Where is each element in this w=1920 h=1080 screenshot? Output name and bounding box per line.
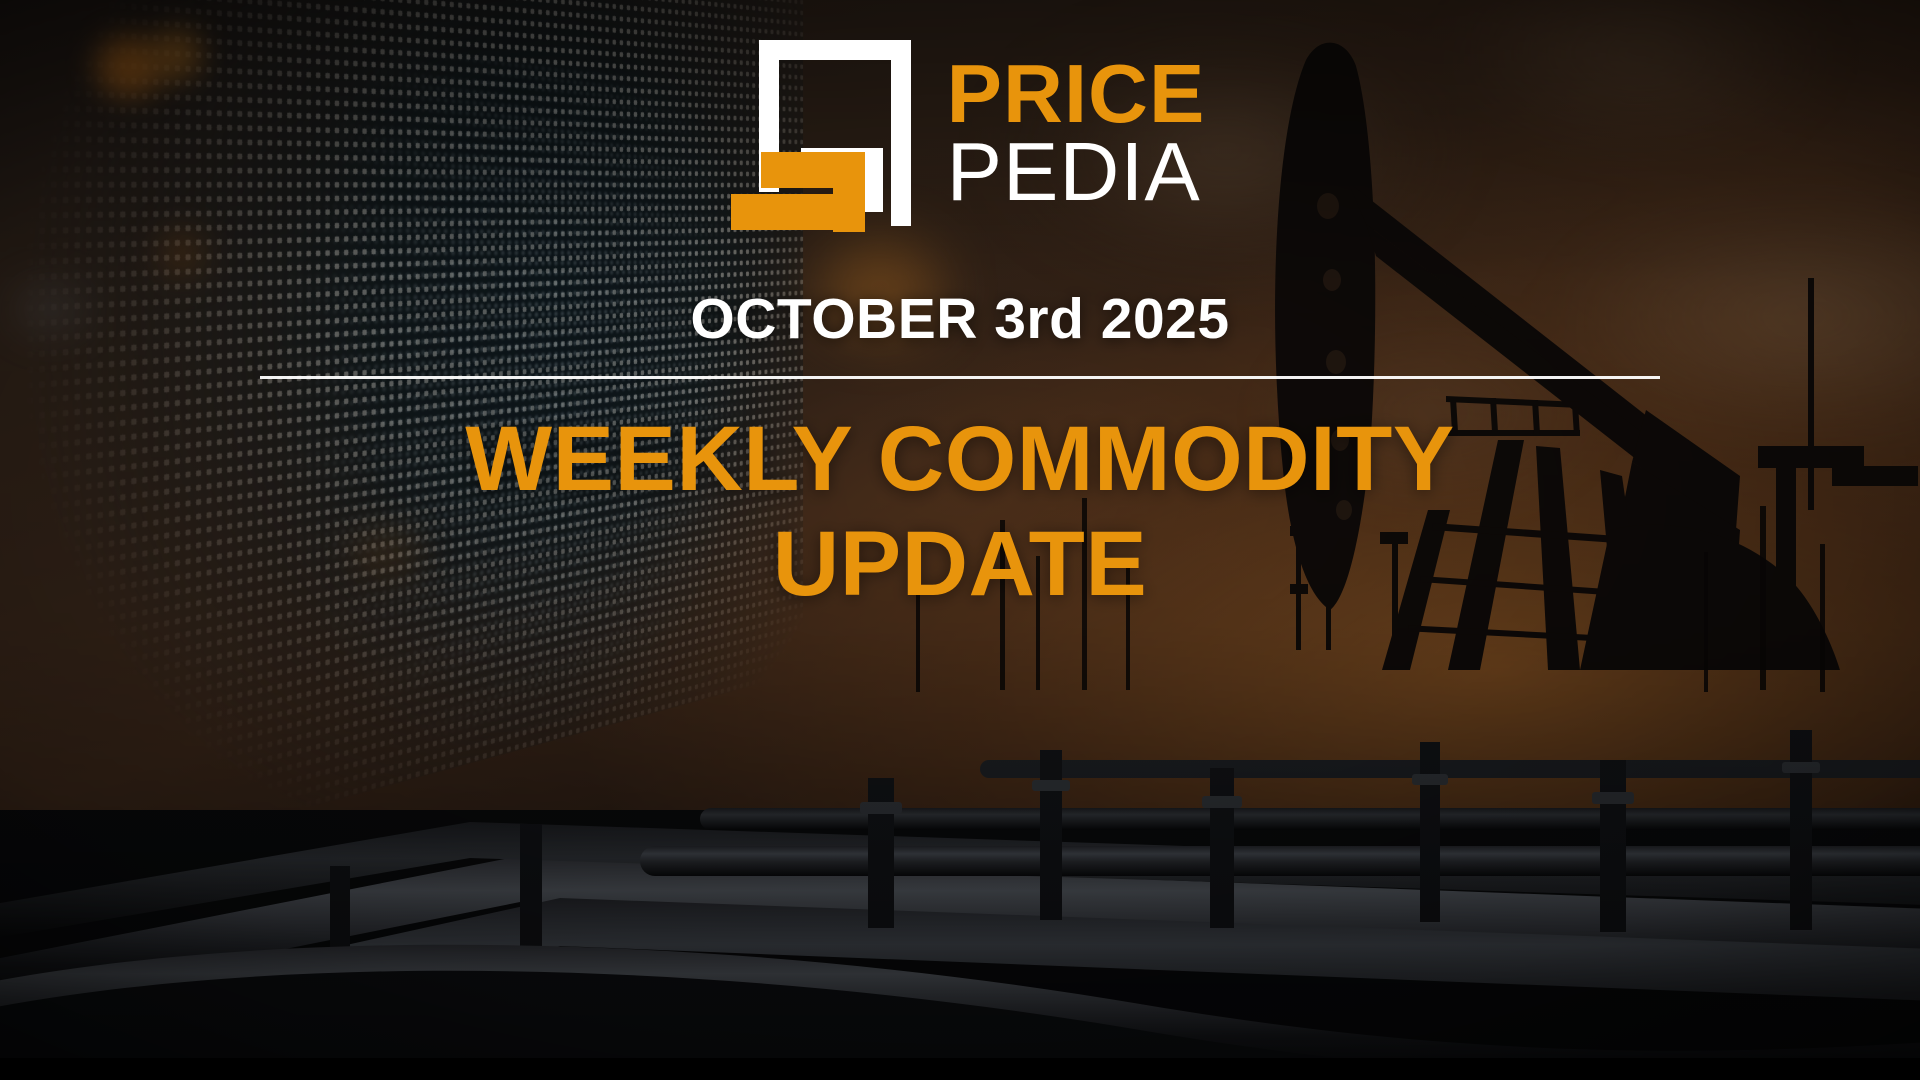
pricepedia-wordmark: PRICE PEDIA bbox=[947, 52, 1206, 211]
logo-word-pedia: PEDIA bbox=[947, 134, 1206, 210]
banner-content: PRICE PEDIA OCTOBER 3rd 2025 WEEKLY COMM… bbox=[0, 0, 1920, 1080]
headline-line-1: WEEKLY COMMODITY bbox=[465, 407, 1454, 512]
issue-date: OCTOBER 3rd 2025 bbox=[690, 286, 1229, 352]
logo-word-price: PRICE bbox=[947, 56, 1206, 132]
bottom-band bbox=[0, 1058, 1920, 1080]
pricepedia-bracket-mark-icon bbox=[715, 30, 921, 232]
headline: WEEKLY COMMODITY UPDATE bbox=[465, 407, 1454, 617]
pricepedia-logo: PRICE PEDIA bbox=[715, 30, 1206, 232]
banner-slide: PRICE PEDIA OCTOBER 3rd 2025 WEEKLY COMM… bbox=[0, 0, 1920, 1080]
header-divider bbox=[260, 376, 1660, 379]
headline-line-2: UPDATE bbox=[773, 512, 1147, 617]
